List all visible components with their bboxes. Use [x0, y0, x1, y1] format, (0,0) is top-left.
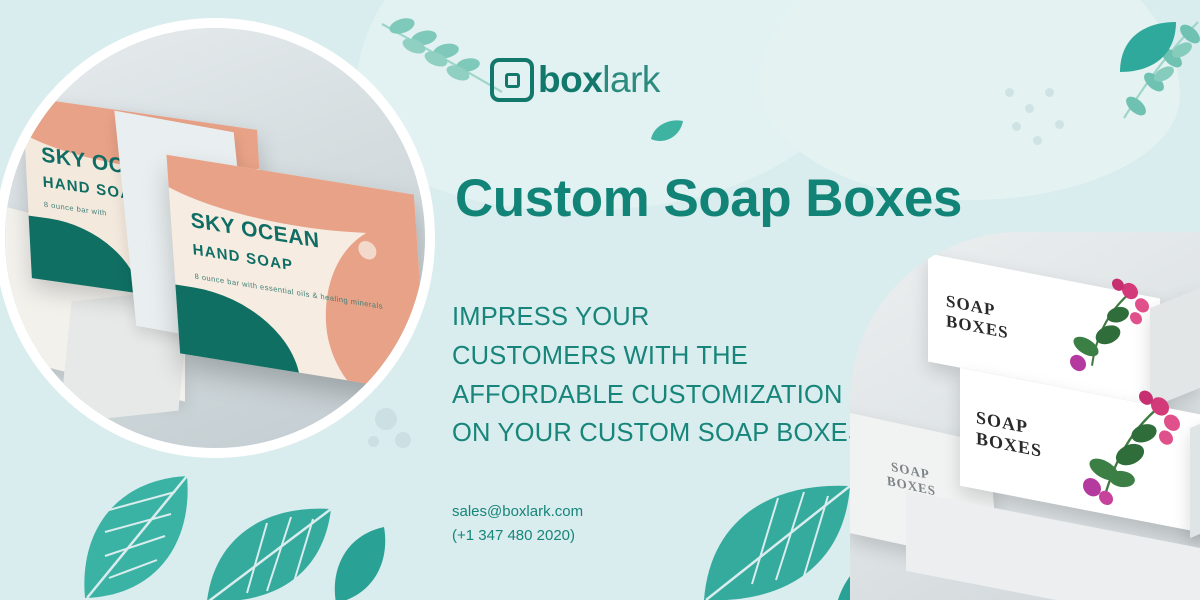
floral-print-icon	[1072, 373, 1182, 519]
brand-logo-light: lark	[602, 59, 660, 100]
decorative-dot	[1033, 136, 1042, 145]
leaf-icon	[700, 480, 855, 600]
page-title: Custom Soap Boxes	[455, 168, 962, 229]
brand-logo-text: boxlark	[538, 59, 660, 101]
contact-block: sales@boxlark.com (+1 347 480 2020)	[452, 500, 583, 548]
leaf-icon	[75, 470, 195, 600]
soap-box-front: SKY OCEAN HAND SOAP 8 ounce bar with ess…	[166, 155, 425, 393]
leaf-icon	[330, 525, 390, 600]
contact-phone[interactable]: (+1 347 480 2020)	[452, 524, 583, 548]
soap-box-front-side	[1190, 412, 1200, 538]
left-product-photo: SKY OCEAN HAND SOAP 8 ounce bar with SKY…	[0, 18, 435, 458]
decorative-dot	[1045, 88, 1054, 97]
decorative-dot	[1012, 122, 1021, 131]
square-outline-icon	[490, 58, 534, 102]
decorative-dot	[1005, 88, 1014, 97]
decorative-dot	[1025, 104, 1034, 113]
leaf-icon	[205, 505, 335, 600]
contact-email[interactable]: sales@boxlark.com	[452, 500, 583, 524]
brand-logo[interactable]: boxlark	[490, 58, 660, 102]
right-product-photo: SOAP BOXES SOAP BOXES SOAP BOXES	[850, 232, 1200, 600]
brand-logo-bold: box	[538, 59, 602, 100]
floral-print-icon	[1056, 263, 1152, 392]
leaf-icon	[1118, 20, 1178, 75]
promo-banner: SKY OCEAN HAND SOAP 8 ounce bar with SKY…	[0, 0, 1200, 600]
leaf-icon	[650, 118, 684, 146]
decorative-dot	[1055, 120, 1064, 129]
